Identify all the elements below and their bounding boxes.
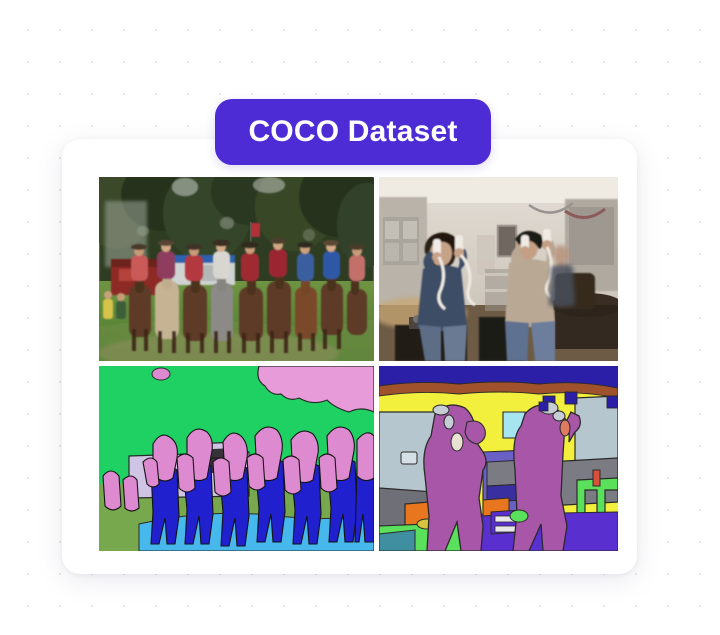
gallery-card [62, 139, 637, 574]
dataset-title-badge: COCO Dataset [215, 99, 491, 165]
horse-parade-photo [99, 177, 374, 361]
gallery-image-top-left[interactable] [99, 177, 374, 361]
gallery-mask-bottom-left[interactable] [99, 366, 374, 551]
wii-players-photo [379, 177, 618, 361]
image-grid [99, 177, 618, 554]
horse-parade-segmentation-mask [99, 366, 374, 551]
dataset-title-label: COCO Dataset [248, 117, 457, 147]
living-room-segmentation-mask [379, 366, 618, 551]
gallery-image-top-right[interactable] [379, 177, 618, 361]
gallery-mask-bottom-right[interactable] [379, 366, 618, 551]
